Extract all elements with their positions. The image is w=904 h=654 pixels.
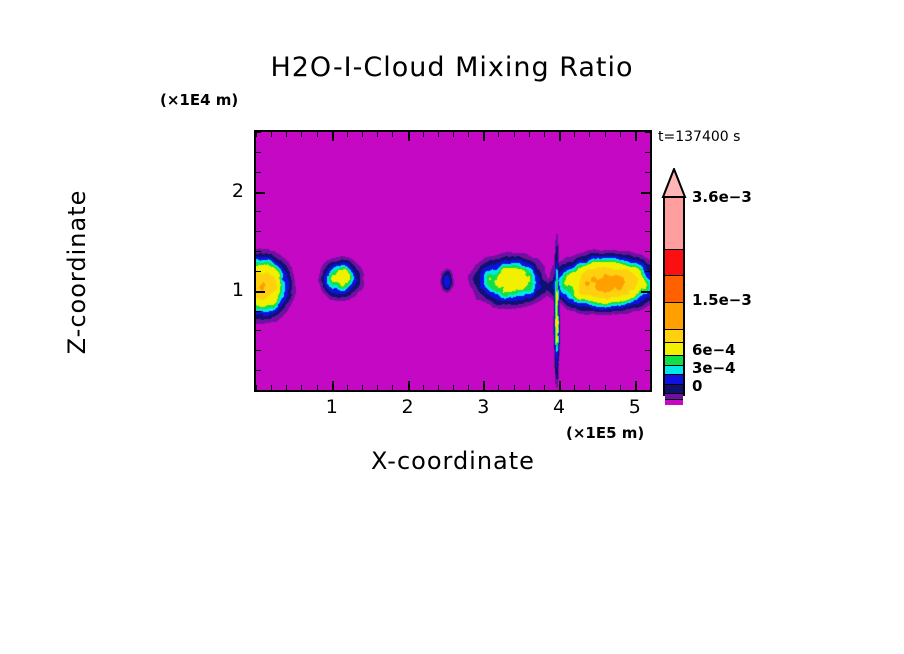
x-tick-minor (544, 385, 545, 390)
y-tick-minor (256, 390, 261, 391)
y-tick-minor-right (645, 390, 650, 391)
contour-field (256, 132, 650, 390)
x-tick-label: 1 (312, 396, 352, 418)
y-tick-minor (256, 172, 261, 173)
y-tick-label: 1 (210, 279, 244, 301)
y-tick-major (256, 291, 265, 293)
y-tick-minor-right (645, 172, 650, 173)
y-tick-minor-right (645, 271, 650, 272)
y-tick-minor (256, 152, 261, 153)
x-tick-minor-top (529, 132, 530, 137)
y-tick-minor-right (645, 350, 650, 351)
x-tick-minor-top (605, 132, 606, 137)
x-tick-major-top (483, 132, 485, 141)
x-tick-minor (453, 385, 454, 390)
x-tick-major-top (559, 132, 561, 141)
y-tick-label: 2 (210, 180, 244, 202)
x-tick-minor-top (317, 132, 318, 137)
x-tick-minor (620, 385, 621, 390)
x-tick-minor-top (544, 132, 545, 137)
x-tick-label: 5 (615, 396, 655, 418)
colorbar-band (665, 365, 683, 375)
y-tick-minor-right (645, 251, 650, 252)
y-tick-minor (256, 350, 261, 351)
x-tick-minor-top (286, 132, 287, 137)
colorbar-tick-label: 1.5e−3 (692, 291, 752, 309)
x-tick-minor (438, 385, 439, 390)
x-tick-minor (377, 385, 378, 390)
y-axis-title: Z-coordinate (63, 132, 91, 412)
y-tick-minor-right (645, 370, 650, 371)
y-tick-minor-right (645, 231, 650, 232)
x-tick-minor (605, 385, 606, 390)
colorbar-tick-label: 0 (692, 377, 702, 395)
x-tick-minor-top (620, 132, 621, 137)
colorbar-band (665, 329, 683, 342)
cloud-mixing-ratio-colorbar[interactable] (663, 196, 685, 396)
x-tick-major-top (332, 132, 334, 141)
colorbar-band (665, 342, 683, 355)
y-tick-minor (256, 251, 261, 252)
colorbar-band (665, 399, 683, 405)
x-tick-minor (423, 385, 424, 390)
colorbar-band (665, 275, 683, 301)
y-tick-minor (256, 271, 261, 272)
x-tick-minor-top (377, 132, 378, 137)
y-tick-minor (256, 311, 261, 312)
x-tick-minor (514, 385, 515, 390)
x-tick-minor-top (650, 132, 651, 137)
colorbar-tick-label: 6e−4 (692, 341, 736, 359)
x-tick-minor (650, 385, 651, 390)
x-tick-minor (271, 385, 272, 390)
x-tick-label: 3 (463, 396, 503, 418)
page-title: H2O-I-Cloud Mixing Ratio (0, 52, 904, 83)
x-tick-minor (498, 385, 499, 390)
colorbar-tick-label: 3.6e−3 (692, 188, 752, 206)
x-tick-minor-top (423, 132, 424, 137)
x-tick-minor (286, 385, 287, 390)
x-axis-title: X-coordinate (254, 447, 652, 475)
x-tick-minor-top (514, 132, 515, 137)
colorbar-band (665, 384, 683, 393)
x-tick-minor-top (362, 132, 363, 137)
x-tick-minor (362, 385, 363, 390)
colorbar-band (665, 355, 683, 365)
y-tick-minor-right (645, 211, 650, 212)
colorbar-band (665, 302, 683, 329)
x-tick-minor (317, 385, 318, 390)
y-tick-major-right (641, 291, 650, 293)
colorbar-band (665, 249, 683, 275)
y-tick-minor (256, 370, 261, 371)
x-tick-major (332, 381, 334, 390)
colorbar-tick-label: 3e−4 (692, 359, 736, 377)
x-tick-major-top (635, 132, 637, 141)
colorbar-band (665, 198, 683, 249)
x-tick-minor (574, 385, 575, 390)
x-tick-minor-top (589, 132, 590, 137)
x-tick-major-top (408, 132, 410, 141)
y-tick-minor-right (645, 330, 650, 331)
x-tick-minor-top (301, 132, 302, 137)
x-tick-major (483, 381, 485, 390)
y-axis-unit-label: (×1E4 m) (160, 91, 238, 109)
x-tick-minor-top (347, 132, 348, 137)
x-tick-minor-top (468, 132, 469, 137)
x-tick-minor-top (438, 132, 439, 137)
x-tick-minor-top (392, 132, 393, 137)
y-tick-minor (256, 132, 261, 133)
y-tick-minor-right (645, 152, 650, 153)
y-tick-minor (256, 231, 261, 232)
x-tick-minor-top (574, 132, 575, 137)
y-tick-minor (256, 211, 261, 212)
x-tick-minor (392, 385, 393, 390)
y-tick-minor (256, 330, 261, 331)
colorbar-arrow-cap (661, 168, 687, 198)
x-tick-label: 4 (539, 396, 579, 418)
x-tick-minor (301, 385, 302, 390)
x-tick-minor (589, 385, 590, 390)
plot-area[interactable] (254, 130, 652, 392)
x-tick-minor-top (453, 132, 454, 137)
x-tick-label: 2 (388, 396, 428, 418)
x-tick-major (408, 381, 410, 390)
x-axis-unit-label: (×1E5 m) (566, 424, 644, 442)
colorbar-band (665, 374, 683, 384)
x-tick-minor-top (498, 132, 499, 137)
x-tick-major (559, 381, 561, 390)
x-tick-minor (468, 385, 469, 390)
x-tick-minor (529, 385, 530, 390)
y-tick-minor-right (645, 311, 650, 312)
x-tick-minor (347, 385, 348, 390)
y-tick-minor-right (645, 132, 650, 133)
y-tick-major (256, 192, 265, 194)
time-annotation: t=137400 s (658, 129, 740, 145)
y-tick-major-right (641, 192, 650, 194)
x-tick-minor-top (271, 132, 272, 137)
x-tick-major (635, 381, 637, 390)
